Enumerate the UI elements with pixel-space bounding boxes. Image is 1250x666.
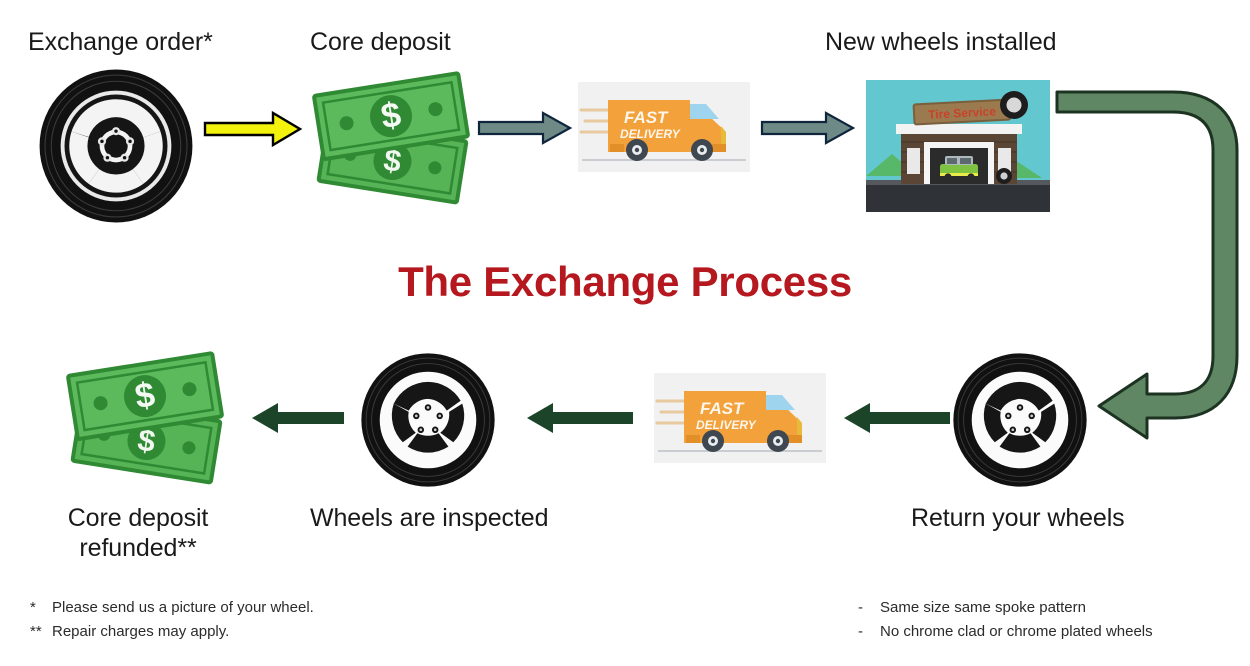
- label-exchange-order: Exchange order*: [28, 28, 213, 58]
- arrow-shipping-to-install: [760, 110, 856, 146]
- footnotes-left: *Please send us a picture of your wheel.…: [30, 596, 314, 645]
- arrow-inspect-to-refund: [248, 400, 346, 436]
- truck-text-fast: FAST: [624, 108, 669, 127]
- arrow-deposit-to-shipping: [477, 110, 573, 146]
- footnote-marker: -: [858, 620, 880, 644]
- footnotes-right: -Same size same spoke pattern -No chrome…: [858, 596, 1153, 645]
- footnote-text: Same size same spoke pattern: [880, 599, 1086, 616]
- wheel-graphic-inspected: [360, 352, 496, 488]
- label-return-your-wheels: Return your wheels: [911, 504, 1125, 534]
- footnote-left-item: **Repair charges may apply.: [30, 620, 314, 644]
- money-graphic-deposit: $ $: [308, 72, 476, 204]
- label-new-wheels-installed: New wheels installed: [825, 28, 1056, 58]
- footnote-marker: *: [30, 596, 52, 620]
- label-wheels-are-inspected: Wheels are inspected: [310, 504, 548, 534]
- label-core-deposit-refunded: Core deposit refunded**: [30, 504, 246, 563]
- footnote-marker: **: [30, 620, 52, 644]
- money-graphic-refund: $ $: [62, 352, 230, 484]
- svg-text:FAST: FAST: [700, 399, 745, 418]
- label-core-deposit: Core deposit: [310, 28, 451, 58]
- footnote-text: Please send us a picture of your wheel.: [52, 599, 314, 616]
- exchange-process-diagram: Exchange order* Core deposit New wheels …: [0, 0, 1250, 666]
- truck-graphic-outbound: FAST DELIVERY: [578, 82, 750, 172]
- footnote-right-item: -No chrome clad or chrome plated wheels: [858, 620, 1153, 644]
- arrow-order-to-deposit: [203, 110, 303, 148]
- svg-text:DELIVERY: DELIVERY: [696, 418, 757, 432]
- truck-graphic-return: FAST DELIVERY: [654, 373, 826, 463]
- wheel-graphic-order: [38, 68, 194, 224]
- truck-text-delivery: DELIVERY: [620, 127, 681, 141]
- footnote-right-item: -Same size same spoke pattern: [858, 596, 1153, 620]
- diagram-title: The Exchange Process: [0, 258, 1250, 306]
- footnote-text: Repair charges may apply.: [52, 623, 229, 640]
- wheel-graphic-return: [952, 352, 1088, 488]
- footnote-text: No chrome clad or chrome plated wheels: [880, 623, 1153, 640]
- tire-shop-graphic: Tire Service: [866, 80, 1050, 212]
- footnote-left-item: *Please send us a picture of your wheel.: [30, 596, 314, 620]
- footnote-marker: -: [858, 596, 880, 620]
- arrow-return-shipping-to-inspect: [523, 400, 635, 436]
- arrow-return-to-shipping: [840, 400, 952, 436]
